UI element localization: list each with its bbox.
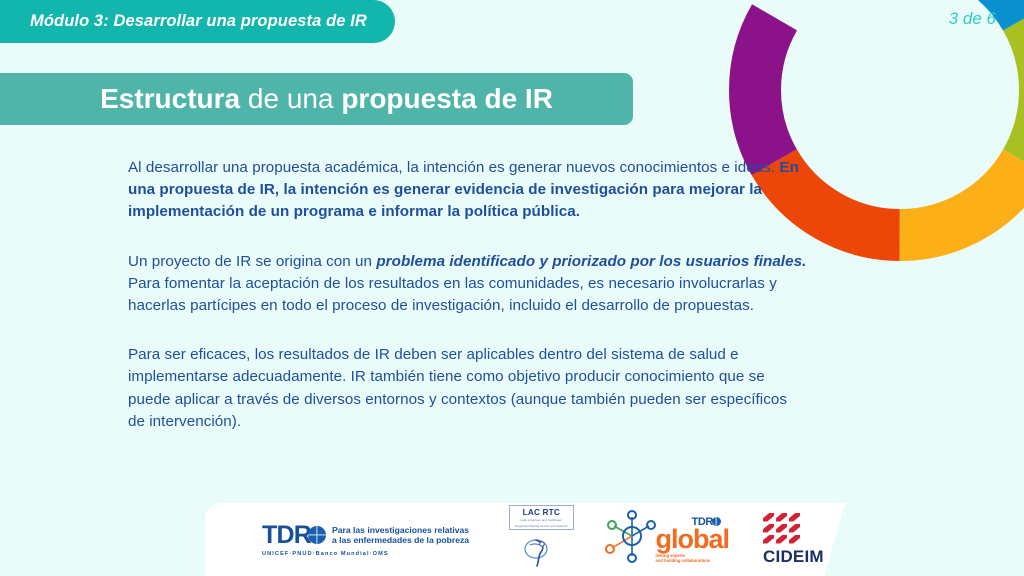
arrow-cell bbox=[776, 513, 787, 522]
logo-cideim: CIDEIM bbox=[763, 513, 824, 567]
logo-lac-rtc: LAC RTC Latin American and Caribbean Reg… bbox=[509, 505, 573, 573]
page-title-part-2: de una bbox=[240, 83, 341, 114]
tdr-tagline: Para las investigaciones relativas a las… bbox=[332, 523, 469, 546]
logo-tdr-global: TDR global linking experts and building … bbox=[602, 508, 730, 571]
arrow-cell bbox=[789, 535, 800, 544]
arrow-cell bbox=[776, 524, 787, 533]
lac-rtc-sub-line1: Latin American and Caribbean bbox=[515, 518, 567, 522]
paragraph-3: Para ser eficaces, los resultados de IR … bbox=[128, 344, 808, 433]
tdr-global-tagline-line2: and building collaborations bbox=[656, 558, 711, 563]
page-counter: 3 de 6 bbox=[949, 9, 996, 29]
tdr-tagline-line1: Para las investigaciones relativas bbox=[332, 525, 469, 535]
south-america-map-icon bbox=[509, 533, 573, 574]
lac-rtc-title: LAC RTC bbox=[515, 508, 567, 517]
lac-rtc-sub-line2: Regional Training Center and Network bbox=[515, 524, 567, 528]
slide-root: Módulo 3: Desarrollar una propuesta de I… bbox=[0, 0, 1024, 576]
footer-logo-row: TDR Para las investigaciones relativas a… bbox=[205, 503, 845, 576]
paragraph-2-normal-a: Un proyecto de IR se origina con un bbox=[128, 253, 376, 270]
page-title: Estructura de una propuesta de IR bbox=[100, 83, 553, 115]
cideim-wordmark: CIDEIM bbox=[763, 547, 824, 567]
paragraph-3-normal: Para ser eficaces, los resultados de IR … bbox=[128, 346, 787, 430]
tdr-global-wordmark: global bbox=[656, 526, 730, 552]
tdr-tagline-line2: a las enfermedades de la pobreza bbox=[332, 535, 469, 545]
paragraph-2: Un proyecto de IR se origina con un prob… bbox=[128, 251, 808, 318]
arrow-grid-icon bbox=[763, 513, 824, 544]
globe-icon bbox=[308, 526, 326, 544]
module-label: Módulo 3: Desarrollar una propuesta de I… bbox=[30, 12, 367, 31]
paragraph-1: Al desarrollar una propuesta académica, … bbox=[128, 157, 808, 224]
module-breadcrumb-chip: Módulo 3: Desarrollar una propuesta de I… bbox=[0, 0, 395, 43]
arrow-cell bbox=[763, 513, 774, 522]
tdr-global-tagline: linking experts and building collaborati… bbox=[656, 553, 730, 563]
body-content: Al desarrollar una propuesta académica, … bbox=[128, 157, 808, 433]
tdr-partners: UNICEF·PNUD·Banco Mundial·OMS bbox=[262, 551, 469, 557]
page-title-part-3: propuesta de IR bbox=[341, 83, 553, 114]
page-title-part-1: Estructura bbox=[100, 83, 240, 114]
paragraph-2-normal-b: Para fomentar la aceptación de los resul… bbox=[128, 275, 777, 314]
arrow-cell bbox=[763, 524, 774, 533]
paragraph-1-normal: Al desarrollar una propuesta académica, … bbox=[128, 159, 779, 176]
arrow-cell bbox=[789, 513, 800, 522]
slide-title-band: Estructura de una propuesta de IR bbox=[0, 73, 633, 125]
tdr-wordmark: TDR bbox=[262, 523, 311, 548]
network-nodes-icon bbox=[602, 508, 662, 571]
logo-tdr: TDR Para las investigaciones relativas a… bbox=[262, 523, 469, 557]
paragraph-2-emphasis: problema identificado y priorizado por l… bbox=[376, 253, 806, 270]
arrow-cell bbox=[789, 524, 800, 533]
arrow-cell bbox=[776, 535, 787, 544]
arrow-cell bbox=[763, 535, 774, 544]
lac-rtc-textbox: LAC RTC Latin American and Caribbean Reg… bbox=[509, 505, 573, 529]
